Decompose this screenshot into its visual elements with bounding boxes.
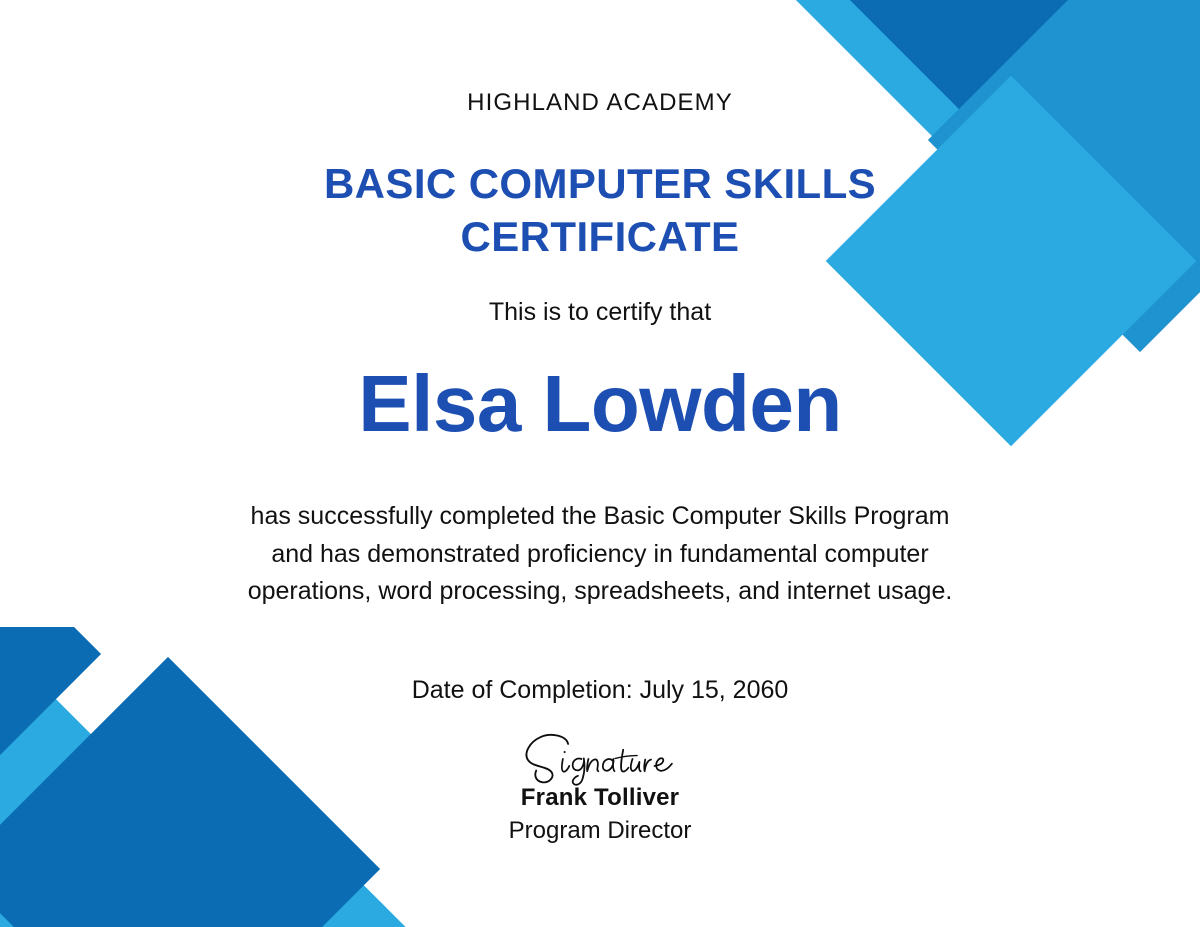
certificate-title: BASIC COMPUTER SKILLS CERTIFICATE bbox=[0, 157, 1200, 264]
certificate-description: has successfully completed the Basic Com… bbox=[0, 498, 1200, 611]
certificate-content: HIGHLAND ACADEMY BASIC COMPUTER SKILLS C… bbox=[0, 0, 1200, 927]
signature-icon: Signature bbox=[513, 730, 687, 788]
signatory-title: Program Director bbox=[509, 817, 692, 845]
certify-statement: This is to certify that bbox=[0, 298, 1200, 327]
description-line-2: and has demonstrated proficiency in fund… bbox=[150, 536, 1050, 574]
certificate-page: HIGHLAND ACADEMY BASIC COMPUTER SKILLS C… bbox=[0, 0, 1200, 927]
completion-date: Date of Completion: July 15, 2060 bbox=[0, 676, 1200, 705]
recipient-name: Elsa Lowden bbox=[0, 358, 1200, 450]
organization-name: HIGHLAND ACADEMY bbox=[0, 89, 1200, 117]
certificate-title-line-2: CERTIFICATE bbox=[0, 210, 1200, 263]
signatory-name: Frank Tolliver bbox=[521, 784, 679, 812]
description-line-3: operations, word processing, spreadsheet… bbox=[150, 573, 1050, 611]
signature-block: Signature bbox=[0, 730, 1200, 845]
certificate-title-line-1: BASIC COMPUTER SKILLS bbox=[0, 157, 1200, 210]
description-line-1: has successfully completed the Basic Com… bbox=[150, 498, 1050, 536]
